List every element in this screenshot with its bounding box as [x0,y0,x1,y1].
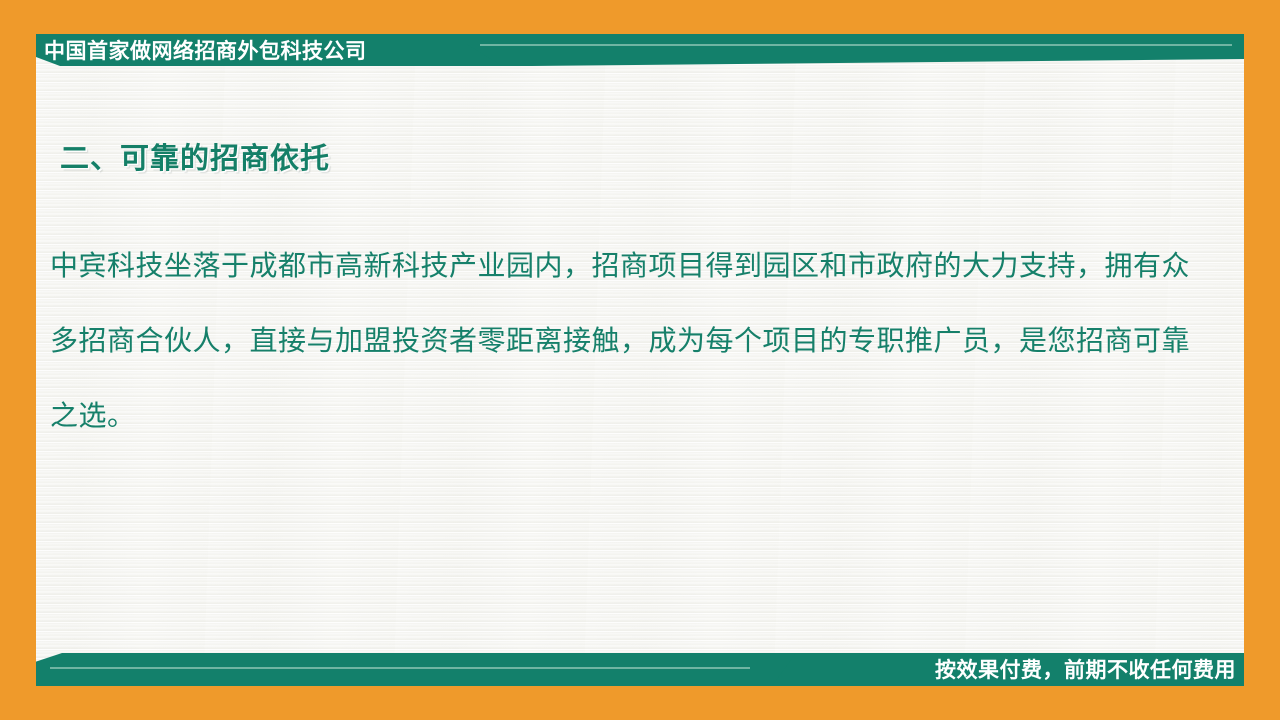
footer-hairline-divider [50,667,750,669]
presentation-slide: 中国首家做网络招商外包科技公司 二、可靠的招商依托 中宾科技坐落于成都市高新科技… [0,0,1280,720]
body-paragraph-container: 中宾科技坐落于成都市高新科技产业园内，招商项目得到园区和市政府的大力支持，拥有众… [50,228,1190,453]
footer-band-left-wedge [36,653,836,686]
company-slogan-header: 中国首家做网络招商外包科技公司 [44,36,367,66]
body-paragraph: 中宾科技坐落于成都市高新科技产业园内，招商项目得到园区和市政府的大力支持，拥有众… [50,228,1190,453]
header-band-right-wedge [466,34,1244,66]
section-title: 二、可靠的招商依托 [60,135,330,177]
header-hairline-divider [480,44,1232,46]
footer-tagline: 按效果付费，前期不收任何费用 [935,655,1236,685]
